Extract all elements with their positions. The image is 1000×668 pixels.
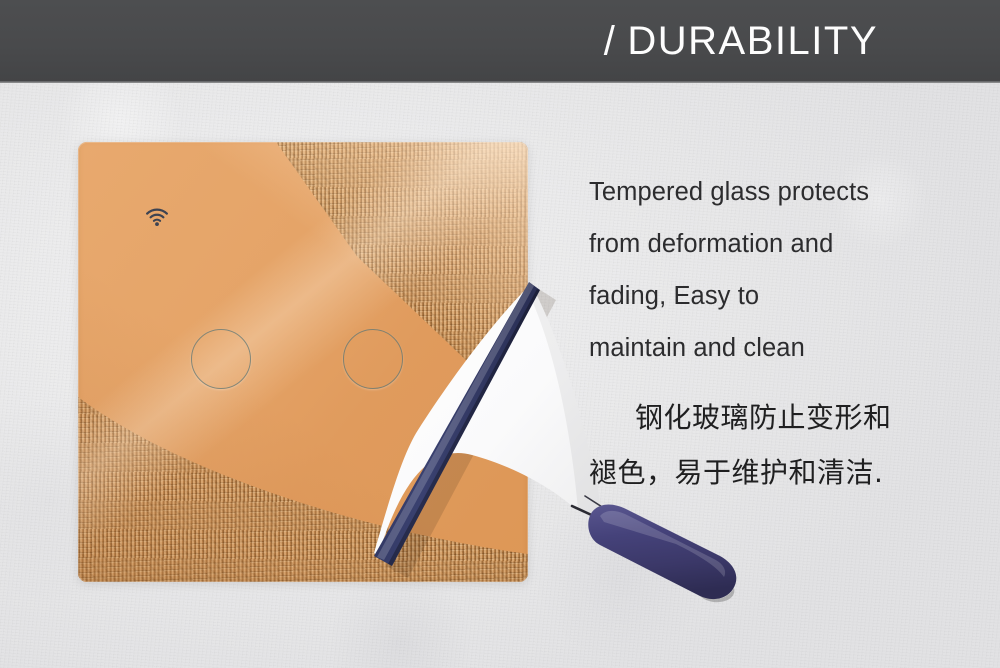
header-bar: /DURABILITY — [0, 0, 1000, 83]
page-title: /DURABILITY — [604, 12, 878, 70]
title-text: DURABILITY — [627, 19, 878, 63]
wifi-icon — [146, 208, 168, 226]
english-line: Tempered glass protects — [589, 166, 969, 218]
english-line: from deformation and — [589, 218, 969, 270]
product-feature-banner: /DURABILITY — [0, 0, 1000, 668]
chinese-copy: 钢化玻璃防止变形和 褪色，易于维护和清洁. — [589, 390, 969, 500]
chinese-line-text: 钢化玻璃防止变形和 — [635, 401, 892, 434]
english-copy: Tempered glass protects from deformation… — [589, 166, 969, 374]
chinese-line: 褪色，易于维护和清洁. — [589, 445, 969, 500]
glass-switch-panel[interactable] — [78, 142, 528, 582]
chinese-line: 钢化玻璃防止变形和 — [589, 390, 969, 445]
feature-copy: Tempered glass protects from deformation… — [589, 166, 969, 500]
touch-circle-right[interactable] — [343, 329, 403, 389]
touch-circle-left[interactable] — [191, 329, 251, 389]
english-line: fading, Easy to — [589, 270, 969, 322]
english-line: maintain and clean — [589, 322, 969, 374]
title-slash-mark: / — [604, 11, 617, 70]
